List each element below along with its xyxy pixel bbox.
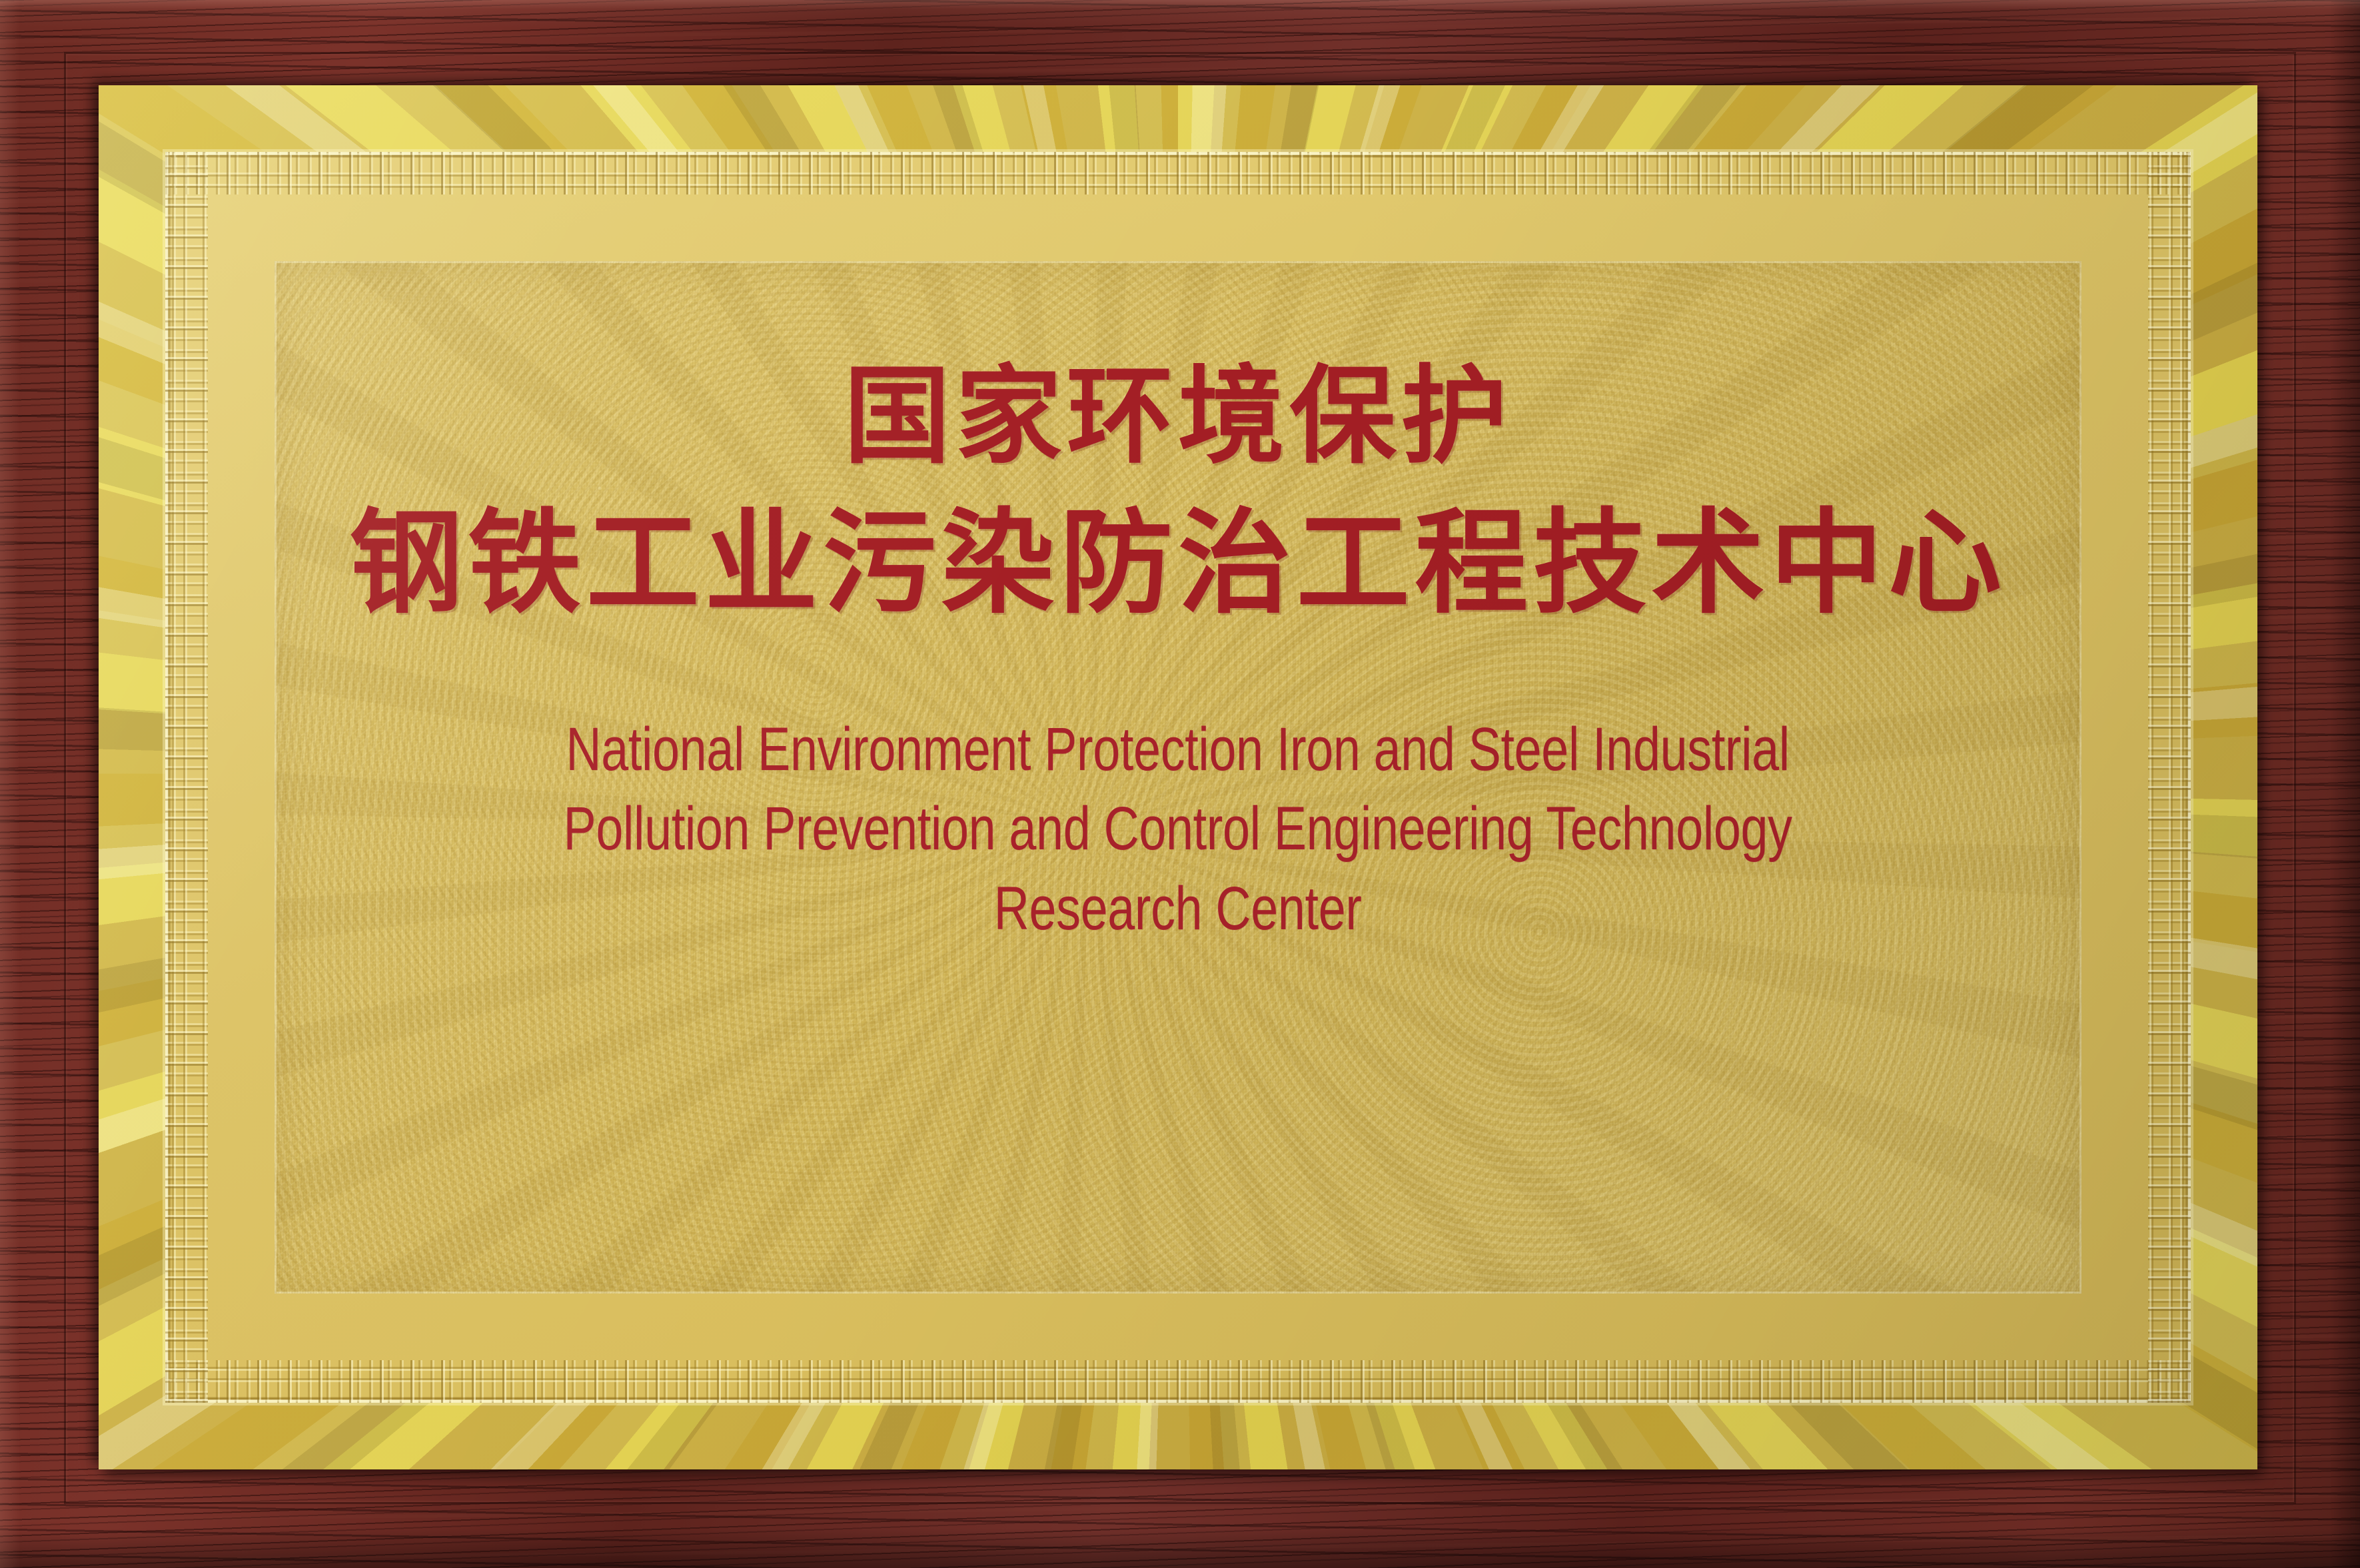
inscription-panel: 国家环境保护 钢铁工业污染防治工程技术中心 National Environme… [275,261,2081,1294]
english-title-line-1: National Environment Protection Iron and… [564,710,1792,790]
chinese-title-line-2: 钢铁工业污染防治工程技术中心 [349,504,2006,623]
english-title-line-3: Research Center [564,869,1792,949]
english-title-line-2: Pollution Prevention and Control Enginee… [564,789,1792,869]
award-plaque: 国家环境保护 钢铁工业污染防治工程技术中心 National Environme… [0,0,2360,1568]
meander-border-band: 国家环境保护 钢铁工业污染防治工程技术中心 National Environme… [165,152,2191,1403]
meander-border-top [165,152,2191,195]
meander-border-left [165,152,208,1403]
english-title-block: National Environment Protection Iron and… [564,710,1792,949]
meander-border-bottom [165,1360,2191,1403]
gold-plate: 国家环境保护 钢铁工业污染防治工程技术中心 National Environme… [99,85,2257,1469]
chinese-title-line-1: 国家环境保护 [844,360,1512,473]
meander-border-right [2148,152,2191,1403]
inscription-text-block: 国家环境保护 钢铁工业污染防治工程技术中心 National Environme… [275,261,2081,949]
